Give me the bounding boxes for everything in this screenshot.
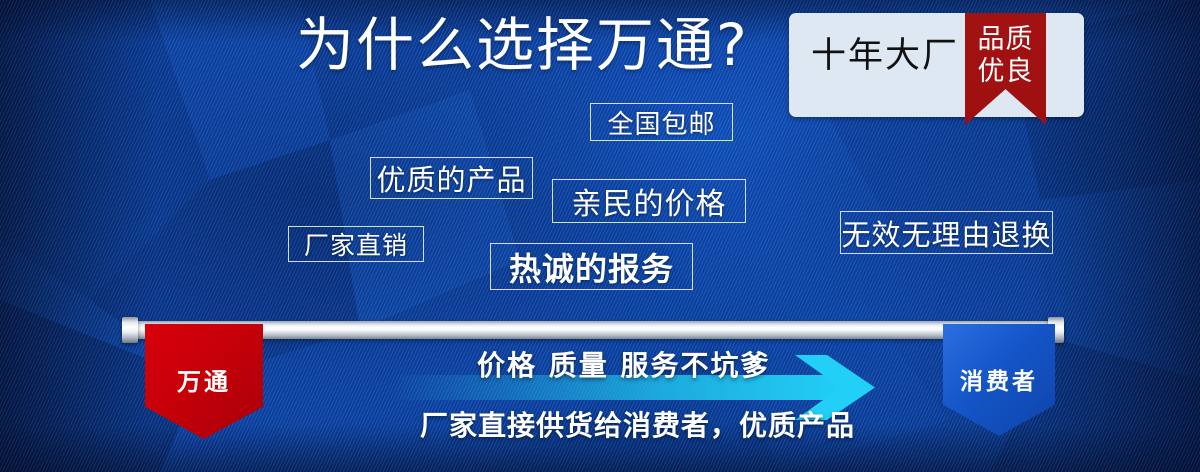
ribbon-line-2: 优良: [965, 58, 1046, 85]
flag-consumer-label: 消费者: [960, 362, 1038, 396]
feature-tag-affordable-price: 亲民的价格: [552, 179, 746, 223]
quality-ribbon: 品质 优良: [965, 13, 1046, 125]
flag-manufacturer-label: 万通: [177, 362, 231, 397]
banner-rod: [128, 321, 1063, 339]
ribbon-line-1: 品质: [965, 26, 1046, 53]
feature-tag-sincere-service: 热诚的报务: [490, 243, 693, 290]
feature-tag-nationwide-shipping: 全国包邮: [590, 103, 733, 141]
feature-tag-free-returns: 无效无理由退换: [840, 211, 1053, 254]
feature-tag-quality-products: 优质的产品: [370, 157, 533, 199]
promo-banner: 为什么选择万通? 十年大厂 品质 优良 全国包邮 优质的产品 亲民的价格 厂家直…: [0, 0, 1200, 472]
quality-badge: 十年大厂 品质 优良: [789, 13, 1084, 117]
badge-label: 十年大厂: [811, 39, 959, 74]
feature-tag-factory-direct: 厂家直销: [288, 226, 424, 262]
banner-rod-cap-left: [122, 317, 138, 343]
promo-line-1: 价格 质量 服务不坑爹: [477, 352, 771, 380]
page-title: 为什么选择万通?: [296, 16, 749, 74]
promo-line-2: 厂家直接供货给消费者，优质产品: [420, 412, 855, 440]
